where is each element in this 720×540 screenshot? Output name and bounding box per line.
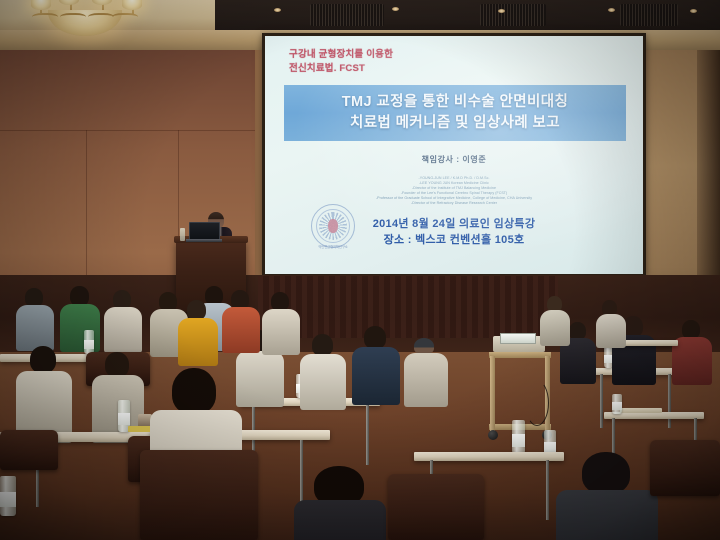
stage-curtain	[258, 276, 558, 338]
slide-title: TMJ 교정을 통한 비수술 안면비대칭 치료법 메커니즘 및 임상사례 보고	[284, 92, 626, 134]
chandelier-light	[14, 0, 156, 48]
recessed-downlight	[498, 9, 505, 13]
slide-title-band: TMJ 교정을 통한 비수술 안면비대칭 치료법 메커니즘 및 임상사례 보고	[284, 85, 626, 141]
lectern-water-bottle	[180, 228, 185, 241]
projection-screen[interactable]: 구강내 균형장치를 이용한 전신치료법. FCST TMJ 교정을 통한 비수술…	[265, 36, 643, 274]
chandelier-lamp-cup	[59, 0, 79, 5]
laptop-keyboard[interactable]	[186, 239, 222, 242]
handout-paper	[620, 408, 662, 413]
chandelier-lamp-cup	[122, 0, 142, 10]
slide-header-line2: 전신치료법. FCST	[289, 62, 393, 76]
ceiling-vent-grille	[620, 4, 678, 26]
water-bottle	[512, 420, 525, 454]
slide-title-line2: 치료법 메커니즘 및 임상사례 보고	[284, 113, 626, 134]
seal-figure-icon	[328, 219, 338, 233]
recessed-downlight	[608, 8, 615, 12]
water-bottle	[84, 330, 94, 354]
ceiling-vent-grille	[480, 4, 546, 26]
chandelier-lamp-cup	[92, 0, 112, 5]
recessed-downlight	[690, 9, 697, 13]
cart-caster	[488, 430, 498, 440]
slide-header-line1: 구강내 균형장치를 이용한	[289, 48, 393, 62]
lecture-hall-photo: 구강내 균형장치를 이용한 전신치료법. FCST TMJ 교정을 통한 비수술…	[0, 0, 720, 540]
chair	[650, 440, 720, 496]
ceiling-vent-grille	[310, 4, 384, 26]
slide-title-line1: TMJ 교정을 통한 비수술 안면비대칭	[284, 92, 626, 113]
projector-cable	[525, 380, 549, 426]
recessed-downlight	[274, 8, 281, 12]
chandelier-lamp-cup	[31, 0, 51, 10]
seal-caption: 악안면균형의학연구소	[313, 244, 353, 249]
institute-seal-logo: 악안면균형의학연구소	[311, 204, 355, 248]
water-bottle	[612, 394, 622, 414]
table	[414, 452, 564, 461]
slide-host-label: 책임강사 : 이영준	[265, 154, 643, 165]
chair	[0, 430, 58, 470]
chair	[388, 474, 484, 540]
overhead-projector-glass	[500, 333, 536, 344]
water-bottle	[0, 476, 16, 516]
slide-credentials: -YOUNG-JUN LEE / K.M.D Ph.D. / D.M.Sc. -…	[265, 176, 643, 207]
chair	[140, 450, 258, 540]
recessed-downlight	[392, 7, 399, 11]
slide-header: 구강내 균형장치를 이용한 전신치료법. FCST	[289, 48, 393, 75]
